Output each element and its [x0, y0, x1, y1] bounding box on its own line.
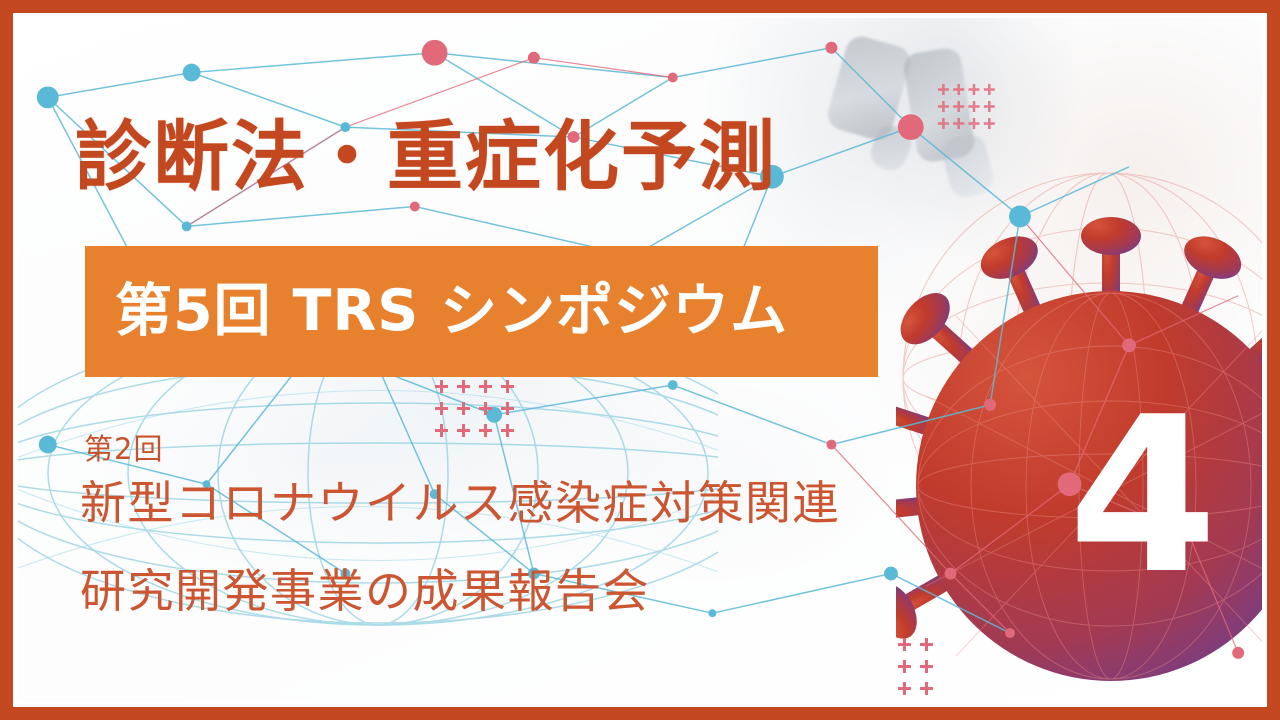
- symposium-title-slide: 診断法・重症化予測 第5回 TRS シンポジウム 第2回 新型コロナウイルス感染…: [0, 0, 1280, 720]
- symposium-banner: 第5回 TRS シンポジウム: [85, 246, 878, 377]
- subtitle-line-2: 研究開発事業の成果報告会: [80, 568, 650, 614]
- plus-sign-grid-microscope: [938, 84, 993, 129]
- page-title: 診断法・重症化予測: [75, 119, 777, 195]
- slide-inner-frame: 診断法・重症化予測 第5回 TRS シンポジウム 第2回 新型コロナウイルス感染…: [13, 13, 1267, 707]
- session-number: 4: [1068, 388, 1214, 603]
- symposium-banner-label: 第5回 TRS シンポジウム: [115, 283, 788, 340]
- subtitle-prefix: 第2回: [84, 435, 163, 464]
- plus-sign-grid-bottom: [898, 638, 933, 702]
- subtitle-line-1: 新型コロナウイルス感染症対策関連: [80, 480, 840, 526]
- slide-canvas: 診断法・重症化予測 第5回 TRS シンポジウム 第2回 新型コロナウイルス感染…: [18, 18, 1262, 702]
- plus-sign-grid-top: [435, 380, 514, 437]
